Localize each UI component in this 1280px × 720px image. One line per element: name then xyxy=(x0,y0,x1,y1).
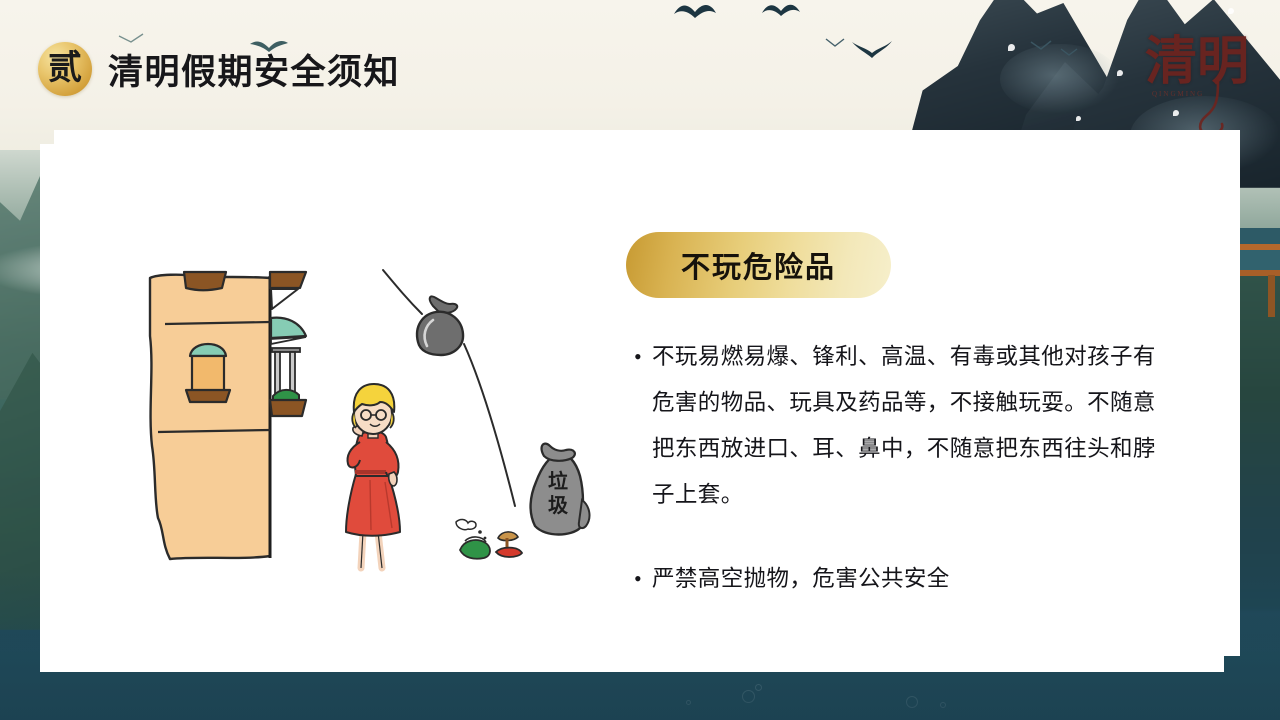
bullet-marker: • xyxy=(626,334,652,380)
petal-2 xyxy=(1117,70,1123,76)
debris-green xyxy=(460,540,490,559)
trash-bag-label-char-2: 圾 xyxy=(548,494,569,517)
awning-top xyxy=(184,272,226,290)
trajectory-upper xyxy=(383,270,422,314)
list-item: • 严禁高空抛物，危害公共安全 xyxy=(626,556,1186,602)
trash-bag-knot xyxy=(542,444,575,461)
awning-top-right xyxy=(270,272,306,288)
trajectory-lower xyxy=(464,344,515,506)
section-heading-label: 不玩危险品 xyxy=(681,244,836,286)
odor-cloud xyxy=(456,519,476,529)
bullet-list: • 不玩易燃易爆、锋利、高温、有毒或其他对孩子有危害的物品、玩具及药品等，不接触… xyxy=(626,334,1186,602)
bird-icon-5 xyxy=(1030,40,1052,51)
trash-bag-label-char-1: 垃 xyxy=(548,469,568,493)
content-column: 不玩危险品 • 不玩易燃易爆、锋利、高温、有毒或其他对孩子有危害的物品、玩具及药… xyxy=(626,232,1186,602)
girl-arm-left xyxy=(348,442,361,467)
section-number-label: 贰 xyxy=(48,52,82,86)
petal-4 xyxy=(1076,116,1081,121)
petal-3 xyxy=(1173,110,1179,116)
falling-trash-bag xyxy=(417,296,463,355)
page-title: 清明假期安全须知 xyxy=(108,44,400,95)
petal-5 xyxy=(1228,8,1234,14)
debris-red xyxy=(496,548,522,557)
list-item: • 不玩易燃易爆、锋利、高温、有毒或其他对孩子有危害的物品、玩具及药品等，不接触… xyxy=(626,334,1186,518)
bullet-marker: • xyxy=(626,556,652,602)
building-body xyxy=(150,275,270,559)
bird-icon-4 xyxy=(825,38,845,48)
window-pane xyxy=(192,356,224,392)
illustration-high-rise-throwing: 垃 圾 xyxy=(130,260,600,590)
bullet-text: 不玩易燃易爆、锋利、高温、有毒或其他对孩子有危害的物品、玩具及药品等，不接触玩耍… xyxy=(652,334,1162,518)
ground-debris xyxy=(456,519,522,558)
trash-bag-large: 垃 圾 xyxy=(531,444,590,535)
bird-icon-6 xyxy=(1060,48,1078,57)
canopy-right xyxy=(271,318,306,338)
bird-icon-1 xyxy=(672,0,718,24)
bird-icon-2 xyxy=(760,0,802,22)
window-planter xyxy=(186,390,230,402)
illustration-svg: 垃 圾 xyxy=(130,260,600,590)
section-heading-pill: 不玩危险品 xyxy=(626,232,891,298)
planter-right xyxy=(270,400,306,416)
bullet-text: 严禁高空抛物，危害公共安全 xyxy=(652,556,950,602)
awning-top-underside xyxy=(271,289,298,309)
petal-1 xyxy=(1008,44,1015,51)
girl-figure xyxy=(346,384,400,568)
canopy-right-underside xyxy=(271,337,306,344)
bird-icon-3 xyxy=(850,36,894,60)
pavilion-post-right xyxy=(1268,275,1275,317)
section-number-badge: 贰 xyxy=(38,42,92,96)
slide-header: 贰 清明假期安全须知 xyxy=(0,36,400,102)
